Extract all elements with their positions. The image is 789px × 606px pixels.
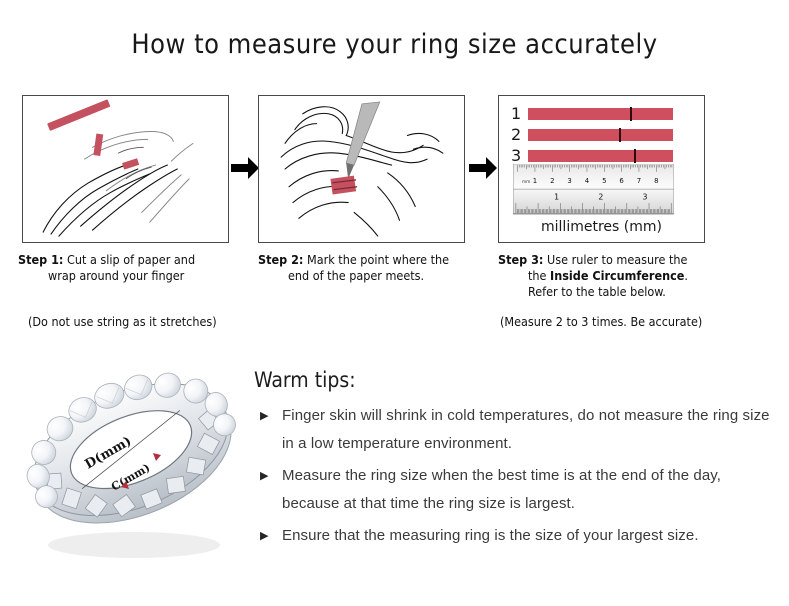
warm-tips-heading: Warm tips: [254, 368, 356, 392]
step-3-line-1: Use ruler to measure the [547, 252, 687, 267]
paper-strip-mark-icon [634, 149, 636, 163]
step-1-line-1: Cut a slip of paper and [67, 252, 195, 267]
svg-text:4: 4 [585, 177, 590, 185]
step-3-illustration-panel: 1 2 3 123 456 [498, 95, 705, 243]
ruler-unit-caption: millimetres (mm) [499, 219, 704, 235]
paper-strip-bar [528, 108, 673, 120]
warm-tip-item: ▶ Measure the ring size when the best ti… [256, 462, 776, 518]
paper-strip-row-3: 3 [511, 148, 673, 164]
svg-text:mm: mm [522, 180, 530, 185]
ring-diagram: D(mm) C(mm) [22, 357, 247, 572]
svg-text:2: 2 [550, 177, 554, 185]
paper-strip-mark-icon [619, 128, 621, 142]
triangle-bullet-icon: ▶ [260, 462, 269, 490]
paper-strip-bar [528, 129, 673, 141]
step-1-label: Step 1: [18, 252, 63, 267]
warm-tips-list: ▶ Finger skin will shrink in cold temper… [256, 402, 776, 554]
step-3-line-3: Refer to the table below. [528, 284, 666, 299]
svg-text:5: 5 [602, 177, 606, 185]
triangle-bullet-icon: ▶ [260, 522, 269, 550]
step-2-line-1: Mark the point where the [307, 252, 449, 267]
paper-strip-row-2: 2 [511, 127, 673, 143]
step-2-label: Step 2: [258, 252, 303, 267]
svg-text:2: 2 [598, 193, 603, 202]
step-3-caption: Step 3: Use ruler to measure the the Ins… [498, 252, 768, 300]
step-1-line-2: wrap around your finger [48, 268, 184, 283]
paper-strip-number: 2 [511, 127, 528, 143]
warm-tip-text: Finger skin will shrink in cold temperat… [282, 407, 770, 452]
svg-text:3: 3 [643, 193, 648, 202]
page-title: How to measure your ring size accurately [0, 29, 789, 60]
svg-text:3: 3 [567, 177, 571, 185]
step-2-line-2: end of the paper meets. [288, 268, 424, 283]
svg-text:6: 6 [619, 177, 623, 185]
step-1-note: (Do not use string as it stretches) [28, 314, 217, 330]
step-2-caption: Step 2: Mark the point where the end of … [258, 252, 493, 284]
paper-strip-number: 1 [511, 106, 528, 122]
warm-tip-item: ▶ Finger skin will shrink in cold temper… [256, 402, 776, 458]
eternity-ring-icon: D(mm) C(mm) [22, 357, 247, 572]
ruler-icon: 123 456 78 mm 123 [513, 164, 693, 216]
arrow-step1-to-step2-icon [231, 155, 259, 181]
hand-marking-paper-with-pen-icon [259, 96, 464, 242]
svg-text:7: 7 [637, 177, 641, 185]
paper-strip-row-1: 1 [511, 106, 673, 122]
paper-strip-number: 3 [511, 148, 528, 164]
svg-text:8: 8 [654, 177, 658, 185]
step-3-line-2-strong: Inside Circumference [550, 268, 684, 283]
svg-text:1: 1 [554, 193, 559, 202]
step-1-illustration-panel [22, 95, 229, 243]
warm-tip-text: Measure the ring size when the best time… [282, 467, 721, 512]
step-3-note: (Measure 2 to 3 times. Be accurate) [500, 314, 702, 330]
triangle-bullet-icon: ▶ [260, 402, 269, 430]
paper-strip-bar [528, 150, 673, 162]
warm-tip-text: Ensure that the measuring ring is the si… [282, 527, 699, 544]
step-1-caption: Step 1: Cut a slip of paper and wrap aro… [18, 252, 253, 284]
step-3-label: Step 3: [498, 252, 543, 267]
paper-strip-mark-icon [630, 107, 632, 121]
step-3-line-2-prefix: the [528, 268, 550, 283]
step-3-line-2-suffix: . [684, 268, 688, 283]
svg-text:1: 1 [533, 177, 537, 185]
warm-tip-item: ▶ Ensure that the measuring ring is the … [256, 522, 776, 550]
arrow-step2-to-step3-icon [469, 155, 497, 181]
hand-with-paper-slip-icon [23, 96, 228, 242]
step-2-illustration-panel [258, 95, 465, 243]
